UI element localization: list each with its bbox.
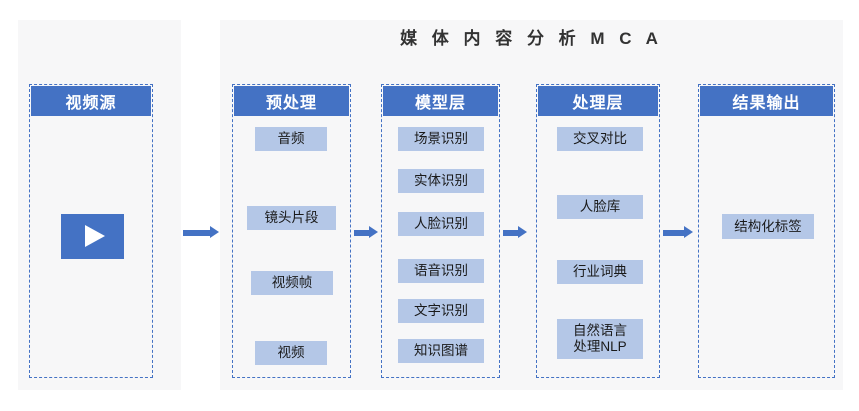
arrow-shaft (183, 230, 210, 236)
arrow-head (369, 226, 378, 238)
arrow-head (210, 226, 219, 238)
play-triangle (85, 225, 105, 247)
column-header-preprocess: 预处理 (234, 86, 349, 116)
arrow-shaft (503, 230, 518, 236)
node-nlp[interactable]: 自然语言 处理NLP (557, 319, 643, 359)
column-preprocess: 预处理 音频 镜头片段 视频帧 视频 (232, 84, 351, 378)
node-video-frame[interactable]: 视频帧 (251, 271, 333, 295)
node-speech-recognition[interactable]: 语音识别 (398, 259, 484, 283)
arrow-head (684, 226, 693, 238)
node-knowledge-graph[interactable]: 知识图谱 (398, 339, 484, 363)
arrow-shaft (663, 230, 684, 236)
node-industry-dictionary[interactable]: 行业词典 (557, 260, 643, 284)
node-face-recognition[interactable]: 人脸识别 (398, 212, 484, 236)
play-icon[interactable] (61, 214, 124, 259)
node-cross-comparison[interactable]: 交叉对比 (557, 127, 643, 151)
node-structured-tag[interactable]: 结构化标签 (722, 214, 814, 239)
arrow-shaft (354, 230, 369, 236)
node-video[interactable]: 视频 (255, 341, 327, 365)
column-header-result-output: 结果输出 (700, 86, 833, 116)
arrow-preprocess-to-model (354, 226, 378, 238)
node-face-database[interactable]: 人脸库 (557, 195, 643, 219)
arrow-model-to-process (503, 226, 527, 238)
column-header-model-layer: 模型层 (383, 86, 498, 116)
column-result-output: 结果输出 结构化标签 (698, 84, 835, 378)
node-text-recognition[interactable]: 文字识别 (398, 299, 484, 323)
column-model-layer: 模型层 场景识别 实体识别 人脸识别 语音识别 文字识别 知识图谱 (381, 84, 500, 378)
node-scene-recognition[interactable]: 场景识别 (398, 127, 484, 151)
page-title: 媒 体 内 容 分 析 M C A (220, 20, 843, 58)
column-header-process-layer: 处理层 (538, 86, 658, 116)
arrow-head (518, 226, 527, 238)
column-process-layer: 处理层 交叉对比 人脸库 行业词典 自然语言 处理NLP (536, 84, 660, 378)
node-shot-segment[interactable]: 镜头片段 (247, 206, 336, 230)
column-video-source: 视频源 (29, 84, 153, 378)
node-audio[interactable]: 音频 (255, 127, 327, 151)
column-header-video-source: 视频源 (31, 86, 151, 116)
node-entity-recognition[interactable]: 实体识别 (398, 169, 484, 193)
arrow-source-to-preprocess (183, 226, 219, 238)
arrow-process-to-result (663, 226, 693, 238)
